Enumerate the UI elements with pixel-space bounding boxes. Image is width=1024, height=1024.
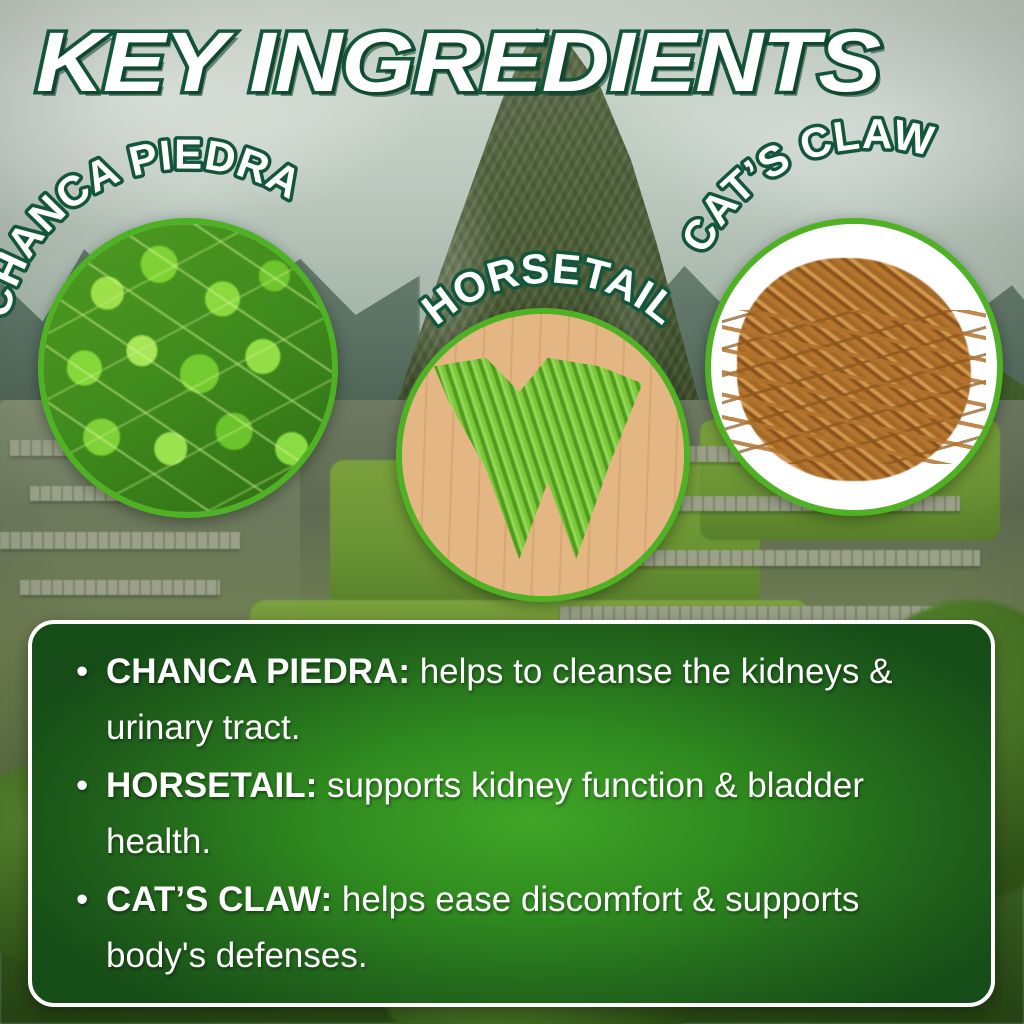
horsetail-stalks-icon [402,314,684,596]
infographic-canvas: KEY INGREDIENTS CHANCA PIEDRA HORSETAIL [0,0,1024,1024]
cats-claw-bark-icon [711,224,997,510]
bullet-icon: • [76,872,106,928]
benefits-panel: • CHANCA PIEDRA: helps to cleanse the ki… [28,620,995,1007]
list-item: • CAT’S CLAW: helps ease discomfort & su… [76,872,957,984]
bullet-icon: • [76,758,106,814]
benefit-term: HORSETAIL: [106,766,317,805]
cats-claw-photo-circle [705,218,1003,516]
ingredient-badge-horsetail [396,308,690,602]
benefit-text: HORSETAIL: supports kidney function & bl… [106,758,957,870]
horsetail-photo-circle [396,308,690,602]
ingredient-badge-cats-claw [705,218,1003,516]
benefit-term: CAT’S CLAW: [106,880,332,919]
list-item: • CHANCA PIEDRA: helps to cleanse the ki… [76,644,957,756]
page-title: KEY INGREDIENTS [36,16,1024,108]
chanca-piedra-photo-circle [38,218,338,518]
chanca-piedra-leaves-icon [44,224,332,512]
benefit-text: CHANCA PIEDRA: helps to cleanse the kidn… [106,644,957,756]
benefit-term: CHANCA PIEDRA: [106,652,410,691]
bullet-icon: • [76,644,106,700]
benefit-text: CAT’S CLAW: helps ease discomfort & supp… [106,872,957,984]
ingredient-badge-chanca-piedra [38,218,338,518]
list-item: • HORSETAIL: supports kidney function & … [76,758,957,870]
benefits-list: • CHANCA PIEDRA: helps to cleanse the ki… [76,644,957,986]
